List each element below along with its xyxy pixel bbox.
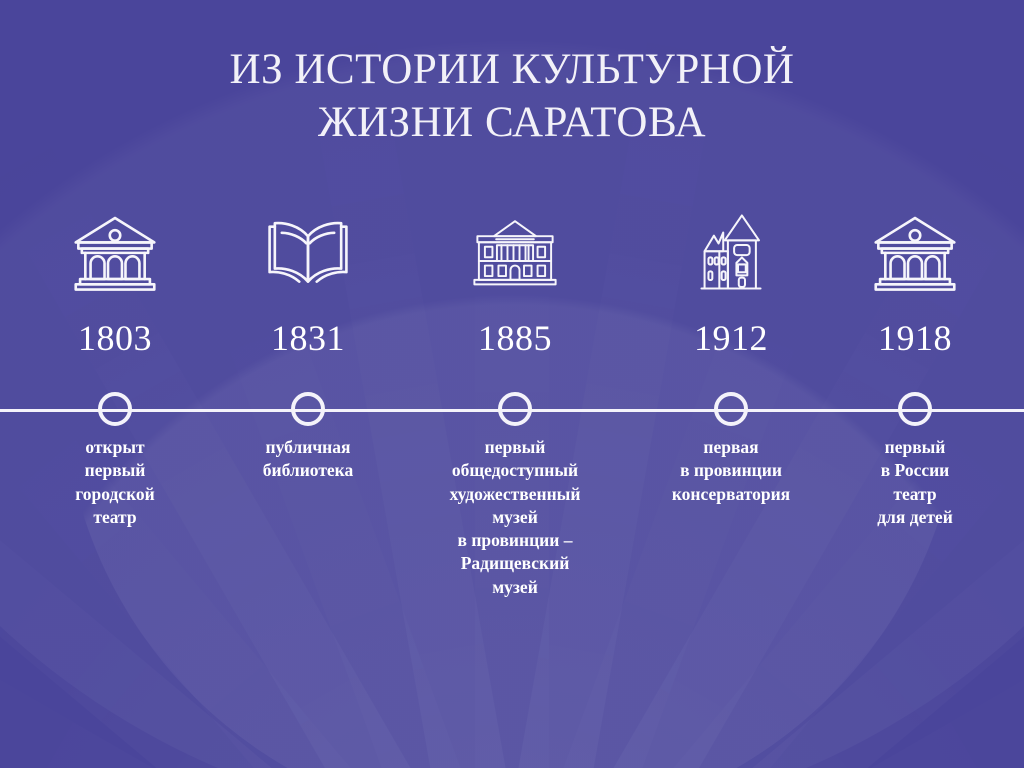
milestone-caption: первая в провинции консерватория	[626, 436, 836, 506]
timeline-milestone[interactable]: 1912первая в провинции консерватория	[636, 196, 826, 356]
page-title-line-1: ИЗ ИСТОРИИ КУЛЬТУРНОЙ	[0, 44, 1024, 97]
timeline-node-marker[interactable]	[498, 392, 532, 426]
open-book-icon	[213, 196, 403, 300]
timeline-node-marker[interactable]	[291, 392, 325, 426]
timeline-node-marker[interactable]	[98, 392, 132, 426]
museum-building-icon	[420, 196, 610, 300]
milestone-year: 1918	[820, 320, 1010, 356]
page-title: ИЗ ИСТОРИИ КУЛЬТУРНОЙ ЖИЗНИ САРАТОВА	[0, 44, 1024, 150]
milestone-year: 1885	[420, 320, 610, 356]
milestone-year: 1831	[213, 320, 403, 356]
timeline: 1803открыт первый городской театр1831пуб…	[0, 196, 1024, 676]
milestone-caption: открыт первый городской театр	[10, 436, 220, 529]
timeline-node-marker[interactable]	[898, 392, 932, 426]
milestone-year: 1803	[20, 320, 210, 356]
slide-canvas: ИЗ ИСТОРИИ КУЛЬТУРНОЙ ЖИЗНИ САРАТОВА 180…	[0, 0, 1024, 768]
timeline-node-marker[interactable]	[714, 392, 748, 426]
milestone-caption: публичная библиотека	[203, 436, 413, 483]
page-title-line-2: ЖИЗНИ САРАТОВА	[0, 97, 1024, 150]
milestone-caption: первый в России театр для детей	[810, 436, 1020, 529]
classical-theatre-icon	[20, 196, 210, 300]
milestone-year: 1912	[636, 320, 826, 356]
milestone-caption: первый общедоступный художественный музе…	[410, 436, 620, 599]
timeline-milestone[interactable]: 1918первый в России театр для детей	[820, 196, 1010, 356]
conservatory-tower-icon	[636, 196, 826, 300]
timeline-milestone[interactable]: 1803открыт первый городской театр	[20, 196, 210, 356]
timeline-milestone[interactable]: 1885первый общедоступный художественный …	[420, 196, 610, 356]
classical-theatre-icon	[820, 196, 1010, 300]
timeline-milestone[interactable]: 1831публичная библиотека	[213, 196, 403, 356]
